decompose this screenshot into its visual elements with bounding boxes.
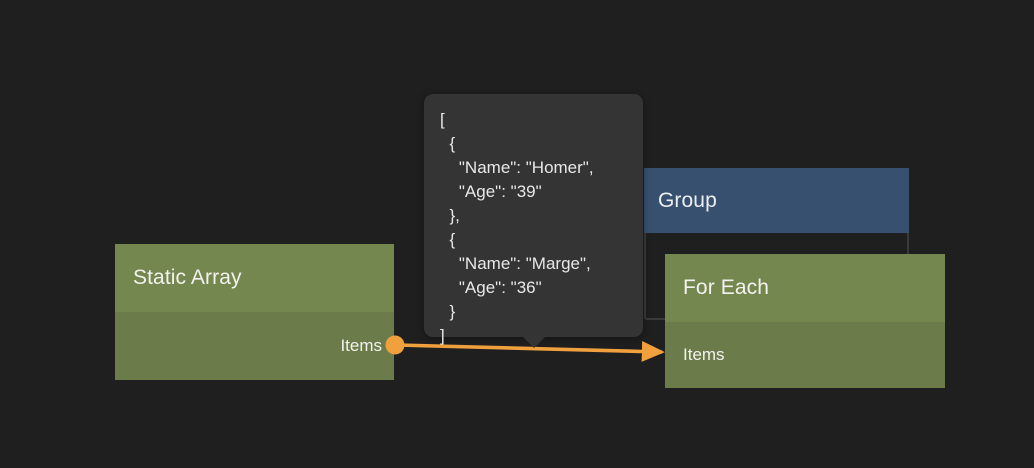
tooltip-caret-icon [523, 337, 545, 348]
node-for-each[interactable]: For Each Items [665, 254, 945, 388]
node-static-array-title: Static Array [133, 266, 242, 290]
port-row-items-output[interactable]: Items [340, 335, 382, 357]
node-static-array-header[interactable]: Static Array [115, 244, 394, 312]
value-preview-tooltip: [ { "Name": "Homer", "Age": "39" }, { "N… [424, 94, 643, 337]
port-label-items-input: Items [683, 345, 725, 365]
node-for-each-header[interactable]: For Each [665, 254, 945, 322]
flow-canvas[interactable]: Group Static Array Items For Each Items [0, 0, 1034, 468]
node-for-each-title: For Each [683, 276, 769, 300]
node-static-array-body: Items [115, 312, 394, 380]
group-node-header[interactable]: Group [644, 168, 909, 233]
port-label-items-output: Items [340, 336, 382, 356]
node-static-array[interactable]: Static Array Items [115, 244, 394, 380]
node-for-each-body: Items [665, 322, 945, 388]
port-row-items-input[interactable]: Items [683, 344, 725, 366]
group-title: Group [658, 189, 717, 213]
value-preview-json: [ { "Name": "Homer", "Age": "39" }, { "N… [440, 108, 627, 348]
